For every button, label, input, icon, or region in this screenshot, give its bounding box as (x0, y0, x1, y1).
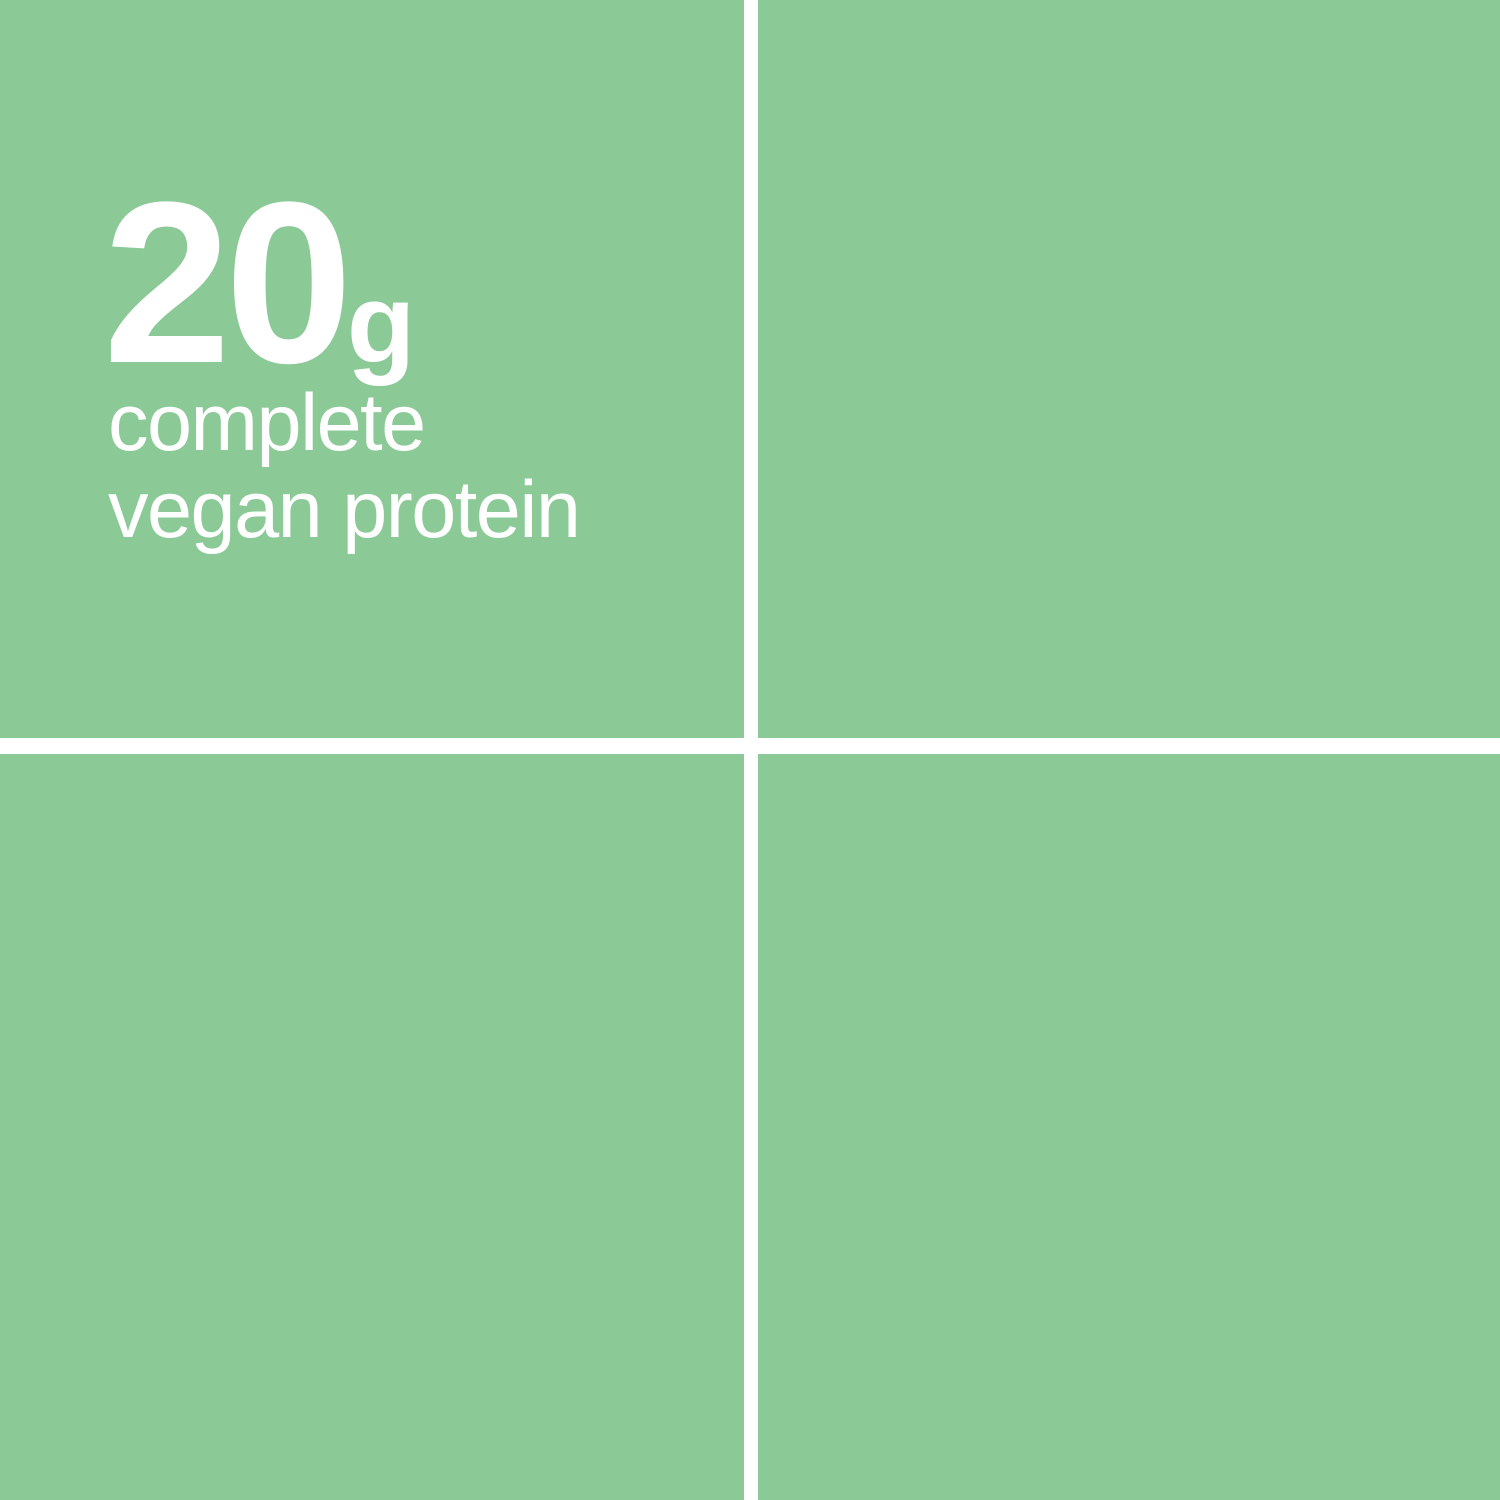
benefits-infographic: 20g complete vegan protein prebiotics (0, 0, 1500, 1500)
protein-caption: complete vegan protein (108, 380, 708, 555)
panel-protein: 20g complete vegan protein (0, 0, 744, 738)
protein-grams-value: 20 (103, 154, 347, 411)
panel-prebiotics: prebiotics to support optimal gut health (758, 0, 1500, 738)
protein-grams-unit: g (347, 261, 413, 386)
panel-claims: NON-GMO GLUTEN FREE SOY FREE DAIRY FREE … (758, 754, 1500, 1500)
panel-taste: mixes well &tastes great with no bad aft… (0, 754, 744, 1500)
protein-caption-line-2: vegan protein (108, 465, 579, 555)
protein-stat: 20g (103, 168, 413, 398)
divider-horizontal (0, 738, 1500, 754)
protein-caption-line-1: complete (108, 378, 425, 468)
